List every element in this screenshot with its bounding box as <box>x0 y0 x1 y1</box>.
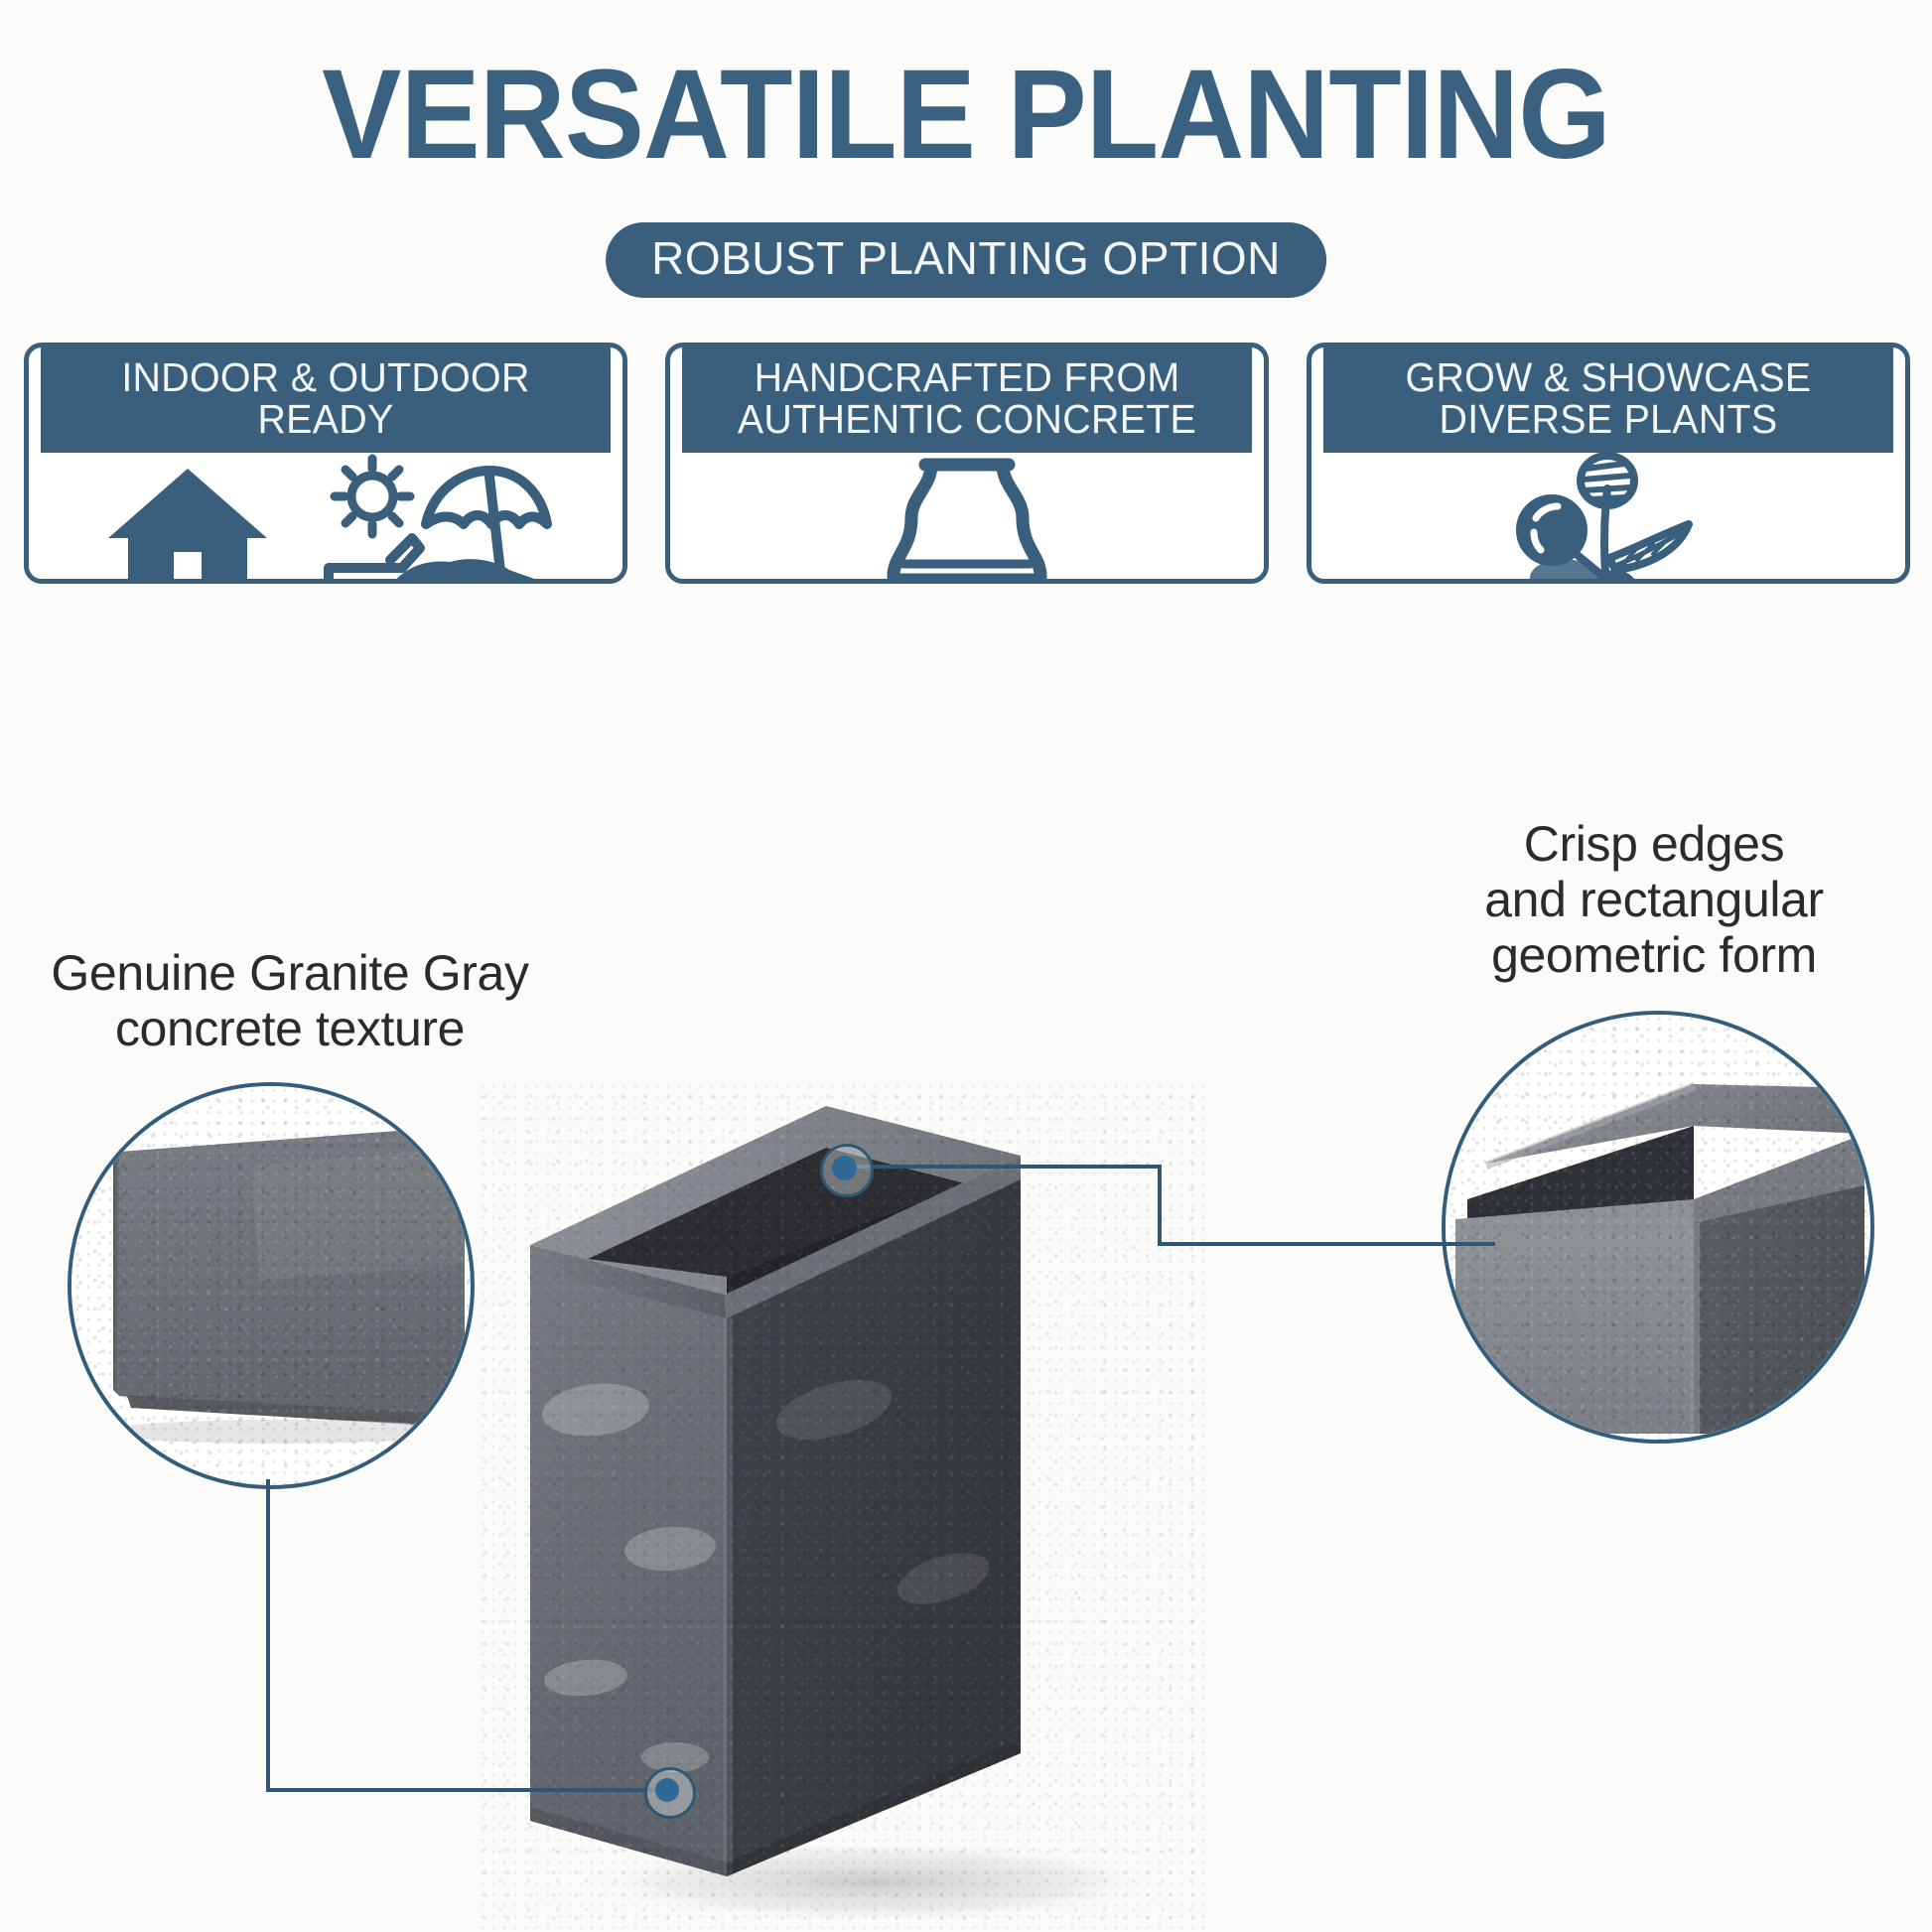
leader-line-edges-vertical <box>1158 1165 1162 1246</box>
leader-line-edges-h2 <box>1158 1242 1495 1246</box>
feature-card-3-body <box>1311 453 1905 584</box>
callout-circle-edges-image <box>1446 1015 1870 1440</box>
leader-line-texture-horizontal <box>266 1788 663 1792</box>
feature-card-indoor-outdoor: INDOOR & OUTDOOR READY <box>24 343 627 584</box>
feature-card-2-title-line2: AUTHENTIC CONCRETE <box>688 399 1247 441</box>
feature-card-2-header: HANDCRAFTED FROM AUTHENTIC CONCRETE <box>682 347 1252 453</box>
feature-card-grow-showcase: GROW & SHOWCASE DIVERSE PLANTS <box>1307 343 1910 584</box>
callout-texture-line2: concrete texture <box>12 1001 568 1056</box>
page-title: VERSATILE PLANTING <box>58 52 1873 179</box>
callout-circle-texture-image <box>71 1086 471 1485</box>
callout-texture-line1: Genuine Granite Gray <box>12 945 568 1001</box>
callout-circle-edges <box>1442 1011 1874 1444</box>
feature-card-1-header: INDOOR & OUTDOOR READY <box>41 347 611 453</box>
feature-card-row: INDOOR & OUTDOOR READY <box>24 343 1910 584</box>
callout-edges-line3: geometric form <box>1382 927 1926 983</box>
leader-line-edges-h1 <box>854 1165 1162 1169</box>
feature-card-3-header: GROW & SHOWCASE DIVERSE PLANTS <box>1323 347 1893 453</box>
feature-card-3-title-line2: DIVERSE PLANTS <box>1329 399 1888 441</box>
feature-card-1-body <box>29 453 622 584</box>
leader-line-texture-vertical <box>266 1479 270 1792</box>
feature-card-1-title-line2: READY <box>47 399 606 441</box>
marker-dot-texture <box>655 1778 679 1802</box>
callout-edges-line2: and rectangular <box>1382 872 1926 927</box>
feature-card-2-title-line1: HANDCRAFTED FROM <box>688 357 1247 399</box>
marker-dot-edges <box>832 1156 857 1180</box>
infographic-canvas: VERSATILE PLANTING ROBUST PLANTING OPTIO… <box>0 0 1932 1932</box>
feature-card-3-title-line1: GROW & SHOWCASE <box>1329 357 1888 399</box>
subtitle-badge: ROBUST PLANTING OPTION <box>606 222 1326 298</box>
house-sun-beach-umbrella-icon <box>92 453 559 584</box>
product-image-planter <box>477 1082 1211 1932</box>
feature-card-1-title-line1: INDOOR & OUTDOOR <box>47 357 606 399</box>
vase-icon <box>868 453 1066 584</box>
callout-label-edges: Crisp edges and rectangular geometric fo… <box>1382 816 1926 983</box>
berry-plant-icon <box>1504 453 1713 584</box>
feature-card-2-body <box>670 453 1264 584</box>
feature-card-handcrafted: HANDCRAFTED FROM AUTHENTIC CONCRETE <box>665 343 1269 584</box>
callout-edges-line1: Crisp edges <box>1382 816 1926 872</box>
callout-label-texture: Genuine Granite Gray concrete texture <box>12 945 568 1056</box>
callout-circle-texture <box>68 1082 475 1489</box>
